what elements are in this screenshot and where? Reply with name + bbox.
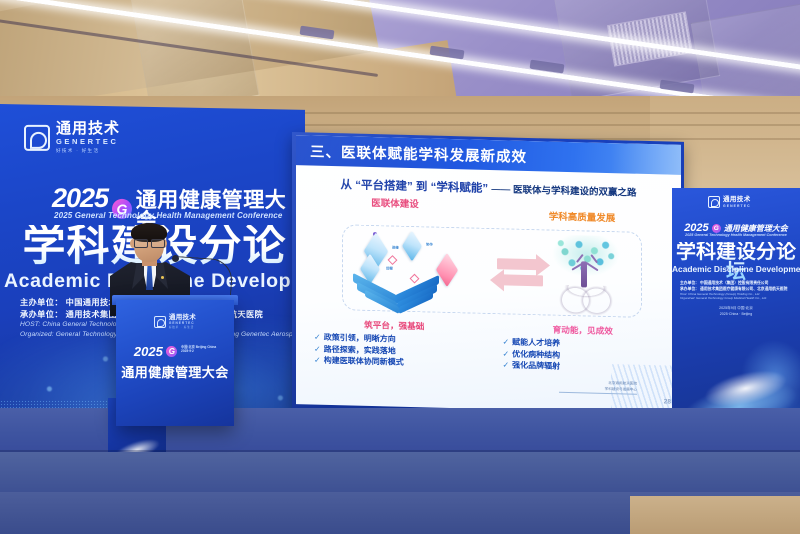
logo-english-name: GENERTEC bbox=[723, 204, 751, 208]
forum-title-en: Academic Discipline Development Forum bbox=[672, 264, 800, 274]
tree-roots-icon bbox=[553, 285, 619, 317]
stage-step-riser bbox=[0, 452, 800, 496]
podium-year-row: 2025 G 中国·北京 Beijing China 2025·9·2 bbox=[116, 344, 234, 359]
projection-screen: 三、医联体赋能学科发展新成效 从 “平台搭建” 到 “学科赋能” —— 医联体与… bbox=[292, 132, 684, 418]
date-line-cn: 2025年9月 中国·北京 bbox=[719, 306, 753, 310]
organizer-line-en: Organized: General Technology Group Medi… bbox=[680, 296, 792, 300]
footer-line-1: 北京通用航天医院 bbox=[608, 381, 637, 386]
conference-stage-photo: 通用技术 GENERTEC 好技术 · 好生活 2025 G 通用健康管理大会 … bbox=[0, 0, 800, 534]
speaker-glasses-icon bbox=[134, 239, 165, 246]
speaker-lapel-pin bbox=[161, 276, 164, 279]
tree-trunk-icon bbox=[581, 261, 587, 287]
g-badge-icon: G bbox=[166, 346, 177, 357]
genertec-logo-right: 通用技术 GENERTEC bbox=[708, 196, 751, 208]
logo-chinese-name: 通用技术 bbox=[56, 121, 120, 136]
date-line-en: 2025·China · Beijing bbox=[720, 312, 753, 316]
check-icon: ✓ bbox=[502, 360, 509, 372]
podium-location-date: 中国·北京 Beijing China 2025·9·2 bbox=[181, 345, 216, 353]
conference-year: 2025 bbox=[52, 185, 108, 212]
caption-medical-alliance: 医联体建设 bbox=[312, 194, 478, 212]
check-icon: ✓ bbox=[314, 343, 321, 355]
presentation-slide: 三、医联体赋能学科发展新成效 从 “平台搭建” 到 “学科赋能” —— 医联体与… bbox=[296, 135, 681, 414]
bullet-text: 构建医联体协同新模式 bbox=[324, 355, 404, 369]
caption-discipline-development: 学科高质量发展 bbox=[499, 207, 665, 225]
logo-chinese-name: 通用技术 bbox=[169, 314, 196, 321]
organizer-block-right: 主办单位： 中国通用技术（集团）控股有限责任公司 承办单位： 通用技术集团医疗健… bbox=[680, 281, 792, 301]
logo-tagline: 好技术 · 好生活 bbox=[56, 147, 120, 154]
forum-title-cn: 学科建设分论坛 bbox=[672, 242, 800, 282]
slide-subtitle-main: 从 “平台搭建” 到 “学科赋能” bbox=[341, 179, 489, 195]
conference-name-en: 2025 General Technology Health Managemen… bbox=[54, 211, 282, 220]
right-backdrop-banner: 通用技术 GENERTEC 2025 G 通用健康管理大会 2025 Gener… bbox=[672, 188, 800, 436]
g-badge-icon: G bbox=[712, 224, 721, 233]
genertec-mark-icon bbox=[708, 196, 720, 208]
genertec-logo: 通用技术 GENERTEC 好技术 · 好生活 bbox=[24, 121, 120, 155]
slide-body: 从 “平台搭建” 到 “学科赋能” —— 医联体与学科建设的双赢之路 医联体建设… bbox=[296, 165, 681, 414]
conference-name-en: 2025 General Technology Health Managemen… bbox=[672, 233, 800, 237]
iso-label: 进修 bbox=[391, 245, 400, 250]
genertec-mark-icon bbox=[24, 125, 50, 151]
slide-section-title: 三、医联体赋能学科发展新成效 bbox=[296, 140, 527, 167]
slide-illustration-area: 进修 协作 远程 转诊 bbox=[342, 224, 642, 318]
iso-cube-highlight bbox=[436, 253, 458, 287]
hall-wood-floor bbox=[630, 496, 800, 534]
right-caption-col: 学科高质量发展 bbox=[499, 198, 665, 225]
genertec-mark-icon bbox=[154, 316, 166, 328]
podium-year: 2025 bbox=[134, 344, 163, 359]
iso-diamond-icon bbox=[388, 255, 398, 265]
logo-chinese-name: 通用技术 bbox=[723, 196, 751, 203]
slide-page-number: 28 bbox=[664, 398, 671, 405]
arrow-left bbox=[503, 274, 543, 286]
check-icon: ✓ bbox=[502, 348, 509, 360]
bullet-column-left: 筑平台，强基础 ✓ 政策引领，明晰方向 ✓ 路径探索，实践落地 ✓ bbox=[314, 318, 475, 371]
iso-diamond-icon bbox=[410, 274, 420, 284]
bullet-text: 强化品牌辐射 bbox=[512, 360, 560, 373]
isometric-blocks-graphic: 进修 协作 远程 转诊 bbox=[351, 233, 479, 308]
podium-date: 2025·9·2 bbox=[181, 349, 194, 353]
check-icon: ✓ bbox=[502, 336, 509, 348]
podium-conference-name: 通用健康管理大会 bbox=[116, 362, 234, 381]
microphone-head-icon bbox=[172, 255, 179, 262]
conference-name-cn: 通用健康管理大会 bbox=[724, 224, 788, 233]
slide-subtitle-tail: —— 医联体与学科建设的双赢之路 bbox=[491, 184, 636, 199]
tree-growth-graphic bbox=[543, 234, 627, 316]
podium-logo: 通用技术 GENERTEC 好技术 · 好生活 bbox=[116, 314, 234, 329]
logo-english-name: GENERTEC bbox=[56, 136, 120, 147]
footer-org-text: 北京通用航天医院 学科建设与发展中心 bbox=[605, 381, 637, 393]
footer-line-2: 学科建设与发展中心 bbox=[605, 387, 637, 392]
check-icon: ✓ bbox=[314, 332, 321, 344]
left-caption-col: 医联体建设 bbox=[312, 194, 478, 221]
iso-label: 远程 bbox=[385, 265, 394, 270]
podium: 通用技术 GENERTEC 好技术 · 好生活 2025 G 中国·北京 Bei… bbox=[116, 300, 234, 426]
logo-tagline: 好技术 · 好生活 bbox=[169, 325, 196, 329]
iso-label: 协作 bbox=[425, 241, 434, 246]
check-icon: ✓ bbox=[314, 355, 321, 367]
screen-frame: 三、医联体赋能学科发展新成效 从 “平台搭建” 到 “学科赋能” —— 医联体与… bbox=[292, 132, 684, 418]
iso-cube bbox=[402, 231, 422, 262]
